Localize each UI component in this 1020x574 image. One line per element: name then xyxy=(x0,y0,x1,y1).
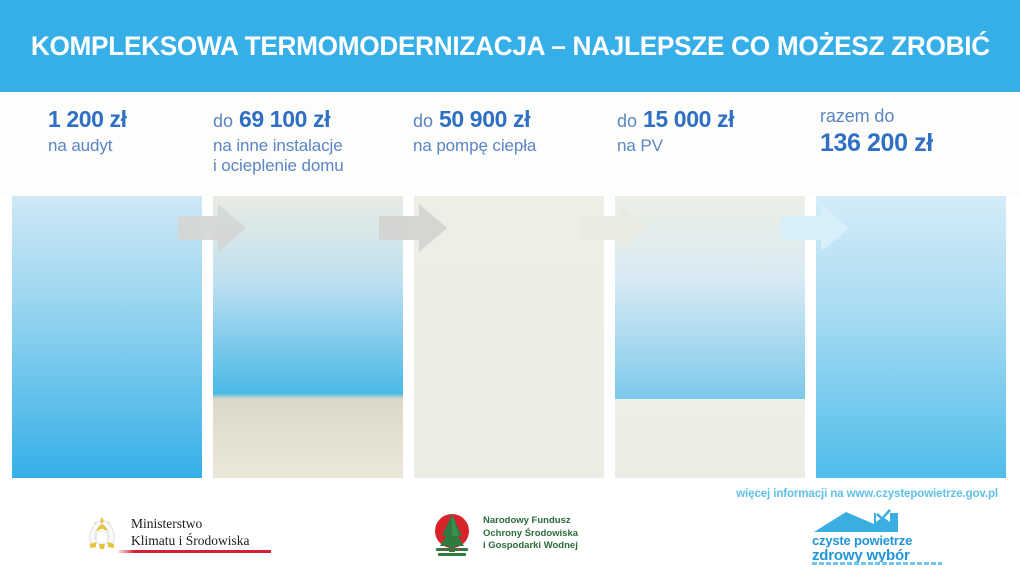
amount-insulation: do 69 100 zł xyxy=(213,106,344,133)
amount-prefix-insulation: do xyxy=(213,111,233,131)
fund-line-1: Narodowy Fundusz xyxy=(483,515,578,528)
fund-line-2: Ochrony Środowiska xyxy=(483,528,578,541)
sublabel-insulation-line2: i ocieplenie domu xyxy=(213,156,344,176)
fund-logo-text: Narodowy Fundusz Ochrony Środowiska i Go… xyxy=(483,515,578,553)
amount-prefix-pv: do xyxy=(617,111,637,131)
arrow-step-3-to-4 xyxy=(580,202,650,254)
sublabel-pv: na PV xyxy=(617,136,734,156)
ministry-line-1: Ministerstwo xyxy=(131,516,250,533)
arrow-step-4-to-total xyxy=(781,202,851,254)
illustration-panels xyxy=(0,196,1020,478)
arrow-step-1-to-2 xyxy=(178,202,248,254)
logo-nfosigw: Narodowy Fundusz Ochrony Środowiska i Go… xyxy=(428,510,578,558)
step-label-insulation: do 69 100 zł na inne instalacje i ociepl… xyxy=(213,106,344,176)
amount-value-heatpump: 50 900 zł xyxy=(439,106,530,132)
step-label-heatpump: do 50 900 zł na pompę ciepła xyxy=(413,106,536,156)
logo-czyste-powietrze: czyste powietrze zdrowy wybór xyxy=(812,508,944,565)
header-bar: KOMPLEKSOWA TERMOMODERNIZACJA – NAJLEPSZ… xyxy=(0,0,1020,92)
sublabel-insulation-line1: na inne instalacje xyxy=(213,136,344,156)
ministry-line-2: Klimatu i Środowiska xyxy=(131,533,250,550)
step-label-total: razem do 136 200 zł xyxy=(820,106,933,159)
logo-ministry: Ministerstwo Klimatu i Środowiska xyxy=(82,513,250,553)
house-roof-check-icon xyxy=(812,508,944,534)
polish-eagle-emblem xyxy=(82,513,122,553)
amount-prefix-heatpump: do xyxy=(413,111,433,131)
amount-value-insulation: 69 100 zł xyxy=(239,106,330,132)
more-info-link[interactable]: więcej informacji na www.czystepowietrze… xyxy=(736,488,998,500)
infographic-page: KOMPLEKSOWA TERMOMODERNIZACJA – NAJLEPSZ… xyxy=(0,0,1020,574)
amount-value-pv: 15 000 zł xyxy=(643,106,734,132)
program-line-1: czyste powietrze xyxy=(812,534,944,548)
ministry-logo-text: Ministerstwo Klimatu i Środowiska xyxy=(131,516,250,550)
ministry-red-bar xyxy=(116,550,271,553)
sublabel-heatpump: na pompę ciepła xyxy=(413,136,536,156)
program-dashed-bar xyxy=(812,562,942,565)
step-label-audit: 1 200 zł na audyt xyxy=(48,106,127,156)
step-label-pv: do 15 000 zł na PV xyxy=(617,106,734,156)
sky-background xyxy=(12,196,202,478)
panel-audit xyxy=(12,196,202,478)
arrow-step-2-to-3 xyxy=(379,202,449,254)
fund-line-3: i Gospodarki Wodnej xyxy=(483,540,578,553)
page-title: KOMPLEKSOWA TERMOMODERNIZACJA – NAJLEPSZ… xyxy=(31,31,990,62)
total-amount: 136 200 zł xyxy=(820,129,933,159)
amount-pv: do 15 000 zł xyxy=(617,106,734,133)
total-prefix: razem do xyxy=(820,106,933,127)
amount-heatpump: do 50 900 zł xyxy=(413,106,536,133)
amount-labels-row: 1 200 zł na audyt do 69 100 zł na inne i… xyxy=(0,92,1020,196)
nfosigw-tree-emblem xyxy=(428,510,476,558)
sublabel-audit: na audyt xyxy=(48,136,127,156)
amount-audit: 1 200 zł xyxy=(48,106,127,133)
